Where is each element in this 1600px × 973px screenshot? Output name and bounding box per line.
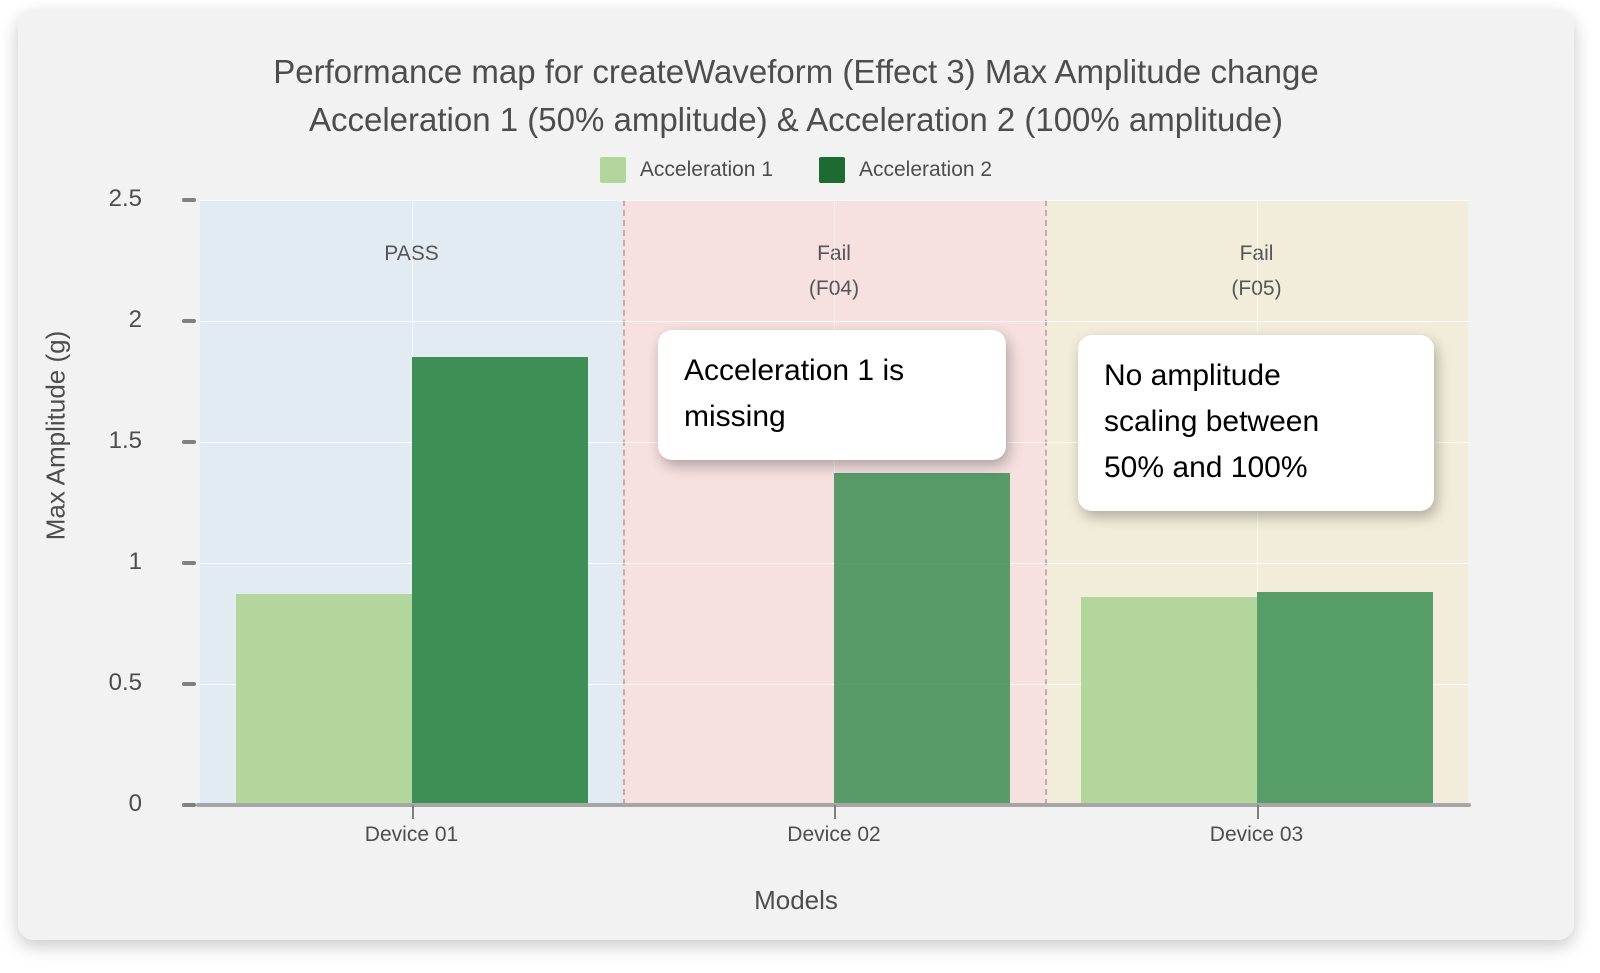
bar-device-03-acceleration-1[interactable] [1081,597,1257,805]
chart-title: Performance map for createWaveform (Effe… [18,48,1574,144]
legend-item-acceleration-1[interactable]: Acceleration 1 [600,157,773,183]
x-axis-title: Models [18,885,1574,916]
y-tick-label: 1 [129,548,142,576]
y-tick-mark [182,319,196,323]
band-divider [623,200,625,805]
legend-label: Acceleration 2 [859,158,992,182]
bar-device-01-acceleration-2[interactable] [412,357,588,805]
x-tick-mark [834,805,836,819]
y-tick-label: 0.5 [109,669,142,697]
chart-card: Performance map for createWaveform (Effe… [18,10,1574,940]
y-axis-title: Max Amplitude (g) [41,226,72,646]
y-tick-label: 2.5 [109,185,142,213]
y-tick-mark [182,803,196,807]
y-tick-label: 2 [129,306,142,334]
bar-device-01-acceleration-1[interactable] [236,594,412,805]
x-tick-mark [412,805,414,819]
y-tick-mark [182,682,196,686]
legend-swatch-icon [600,157,626,183]
legend-label: Acceleration 1 [640,158,773,182]
y-tick-mark [182,561,196,565]
legend-item-acceleration-2[interactable]: Acceleration 2 [819,157,992,183]
legend-swatch-icon [819,157,845,183]
x-tick-label-device-03: Device 03 [1210,823,1303,847]
chart-legend: Acceleration 1 Acceleration 2 [18,157,1574,183]
x-tick-label-device-01: Device 01 [365,823,458,847]
annotation-callout-2: No amplitude scaling between 50% and 100… [1078,335,1434,511]
y-tick-label: 0 [129,790,142,818]
bar-device-03-acceleration-2[interactable] [1257,592,1433,805]
y-tick-mark [182,440,196,444]
screenshot-root: Performance map for createWaveform (Effe… [0,0,1600,973]
bar-device-02-acceleration-2[interactable] [834,473,1010,805]
y-tick-label: 1.5 [109,427,142,455]
annotation-callout-1: Acceleration 1 is missing [658,330,1006,460]
y-tick-mark [182,198,196,202]
band-divider [1045,200,1047,805]
x-tick-label-device-02: Device 02 [787,823,880,847]
x-tick-mark [1257,805,1259,819]
